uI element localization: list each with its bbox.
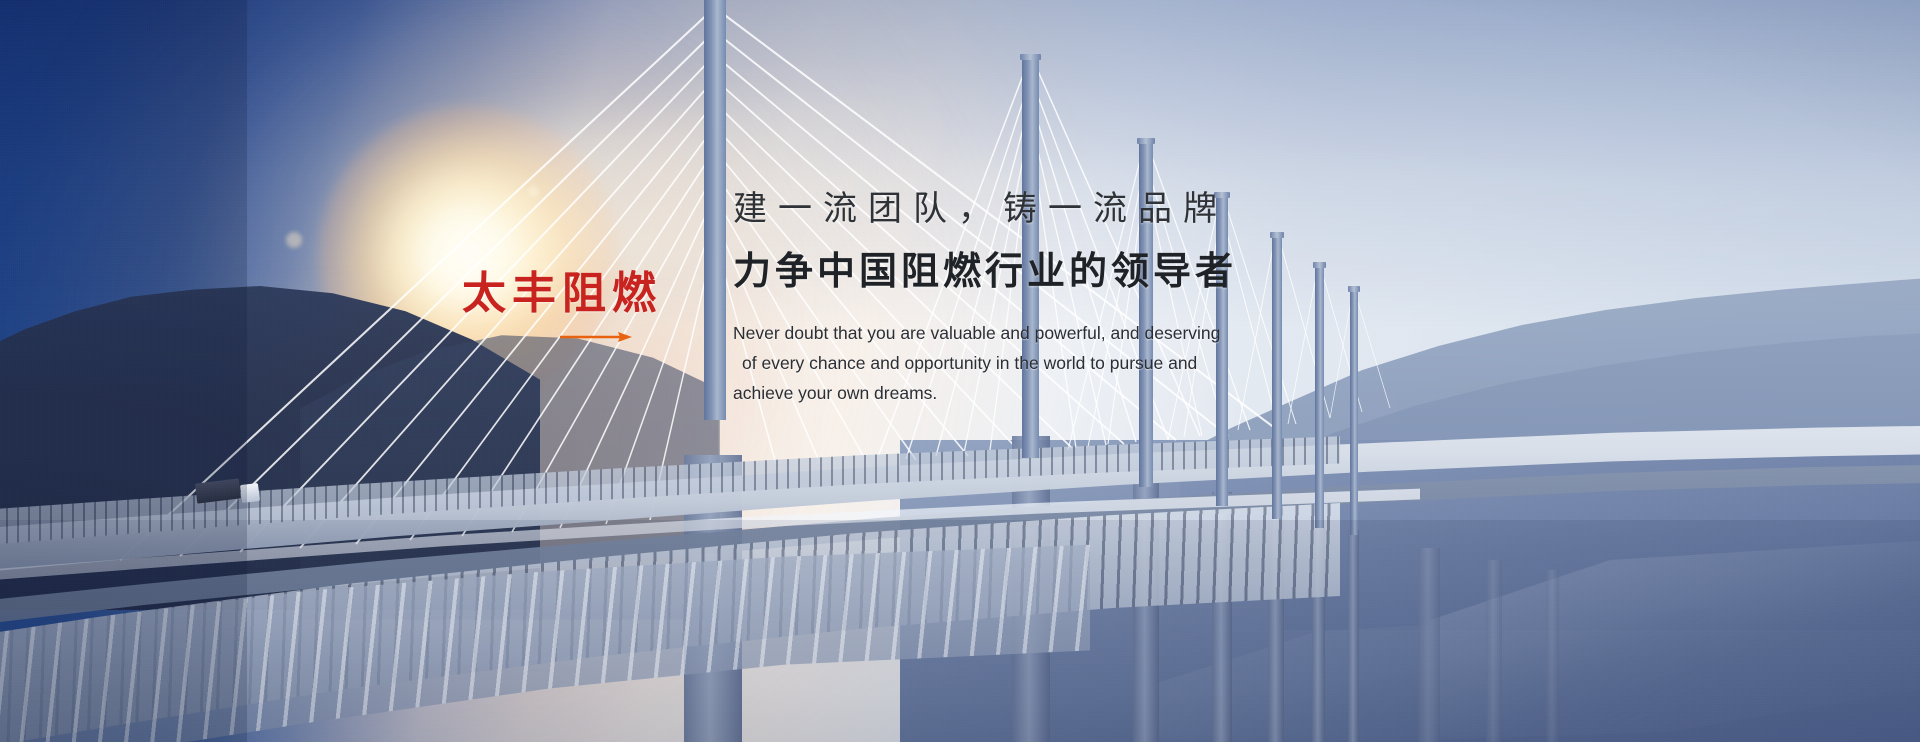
subcopy-line: achieve your own dreams. xyxy=(733,378,1453,408)
hero-copy: 建一流团队，铸一流品牌 力争中国阻燃行业的领导者 Never doubt tha… xyxy=(733,192,1453,408)
company-logo[interactable]: 太丰阻燃 xyxy=(462,272,702,316)
subcopy-paragraph: Never doubt that you are valuable and po… xyxy=(733,318,1453,408)
subcopy-line: of every chance and opportunity in the w… xyxy=(733,348,1453,378)
headline-secondary: 力争中国阻燃行业的领导者 xyxy=(733,252,1453,290)
hero-banner: 太丰阻燃 建一流团队，铸一流品牌 力争中国阻燃行业的领导者 Never doub… xyxy=(0,0,1920,742)
subcopy-line: Never doubt that you are valuable and po… xyxy=(733,318,1453,348)
headline-primary: 建一流团队，铸一流品牌 xyxy=(733,192,1453,226)
right-arrow-icon xyxy=(560,330,632,344)
logo-wordmark: 太丰阻燃 xyxy=(462,272,702,316)
banner-content: 太丰阻燃 建一流团队，铸一流品牌 力争中国阻燃行业的领导者 Never doub… xyxy=(0,0,1920,742)
